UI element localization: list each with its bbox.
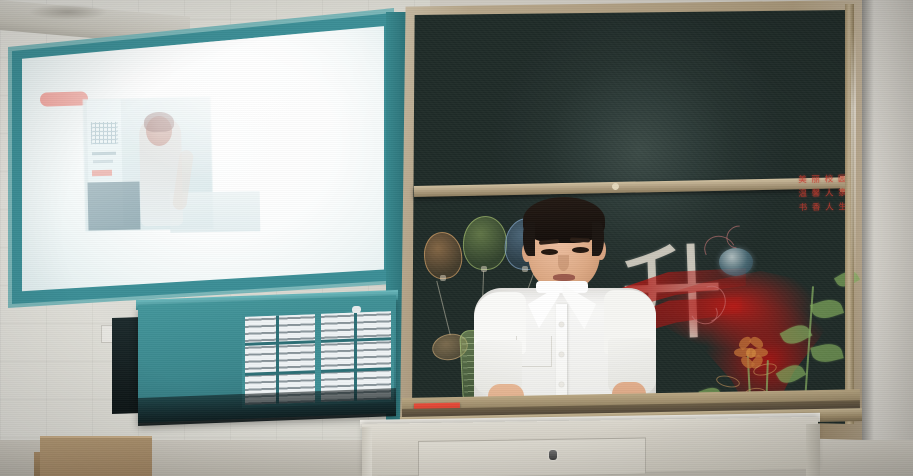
- blackboard-red-text: 美 丽 校 园 温 馨 人 家 书 香 人 生: [772, 171, 849, 218]
- ceiling-stain: [28, 4, 108, 20]
- presenter-nose: [558, 255, 569, 271]
- lectern-lock[interactable]: [549, 450, 557, 460]
- shirt-button: [559, 322, 564, 327]
- presenter-eye: [541, 249, 558, 255]
- presenter-hair-side: [592, 222, 604, 256]
- presenter-mouth: [553, 274, 575, 281]
- chalk-flower-center: [746, 348, 756, 358]
- floor-wooden-object: [40, 436, 152, 476]
- shirt-button: [559, 382, 564, 387]
- shirt-button: [559, 352, 564, 357]
- lectern-drawer[interactable]: [418, 437, 646, 476]
- cabinet-handle[interactable]: [352, 306, 361, 313]
- right-wall-shadow: [862, 0, 874, 476]
- red-text-line-2: 温 馨 人 家: [772, 185, 848, 200]
- blackboard-rail-knob: [612, 183, 619, 190]
- lectern-left-edge: [362, 427, 372, 476]
- projection-glare: [22, 22, 384, 294]
- balloon-knot: [440, 275, 446, 281]
- presenter-collar-band: [536, 281, 588, 293]
- red-text-line-1: 美 丽 校 园: [772, 171, 848, 186]
- blackboard-post-glare: [851, 30, 856, 290]
- lectern-right-edge: [806, 424, 820, 476]
- presenter-hair-side: [523, 222, 535, 256]
- presenter-eye: [572, 247, 589, 253]
- red-text-line-3: 书 香 人 生: [772, 199, 848, 214]
- classroom-photo: 升 美 丽 校 园 温 馨 人 家 书 香 人 生: [0, 0, 913, 476]
